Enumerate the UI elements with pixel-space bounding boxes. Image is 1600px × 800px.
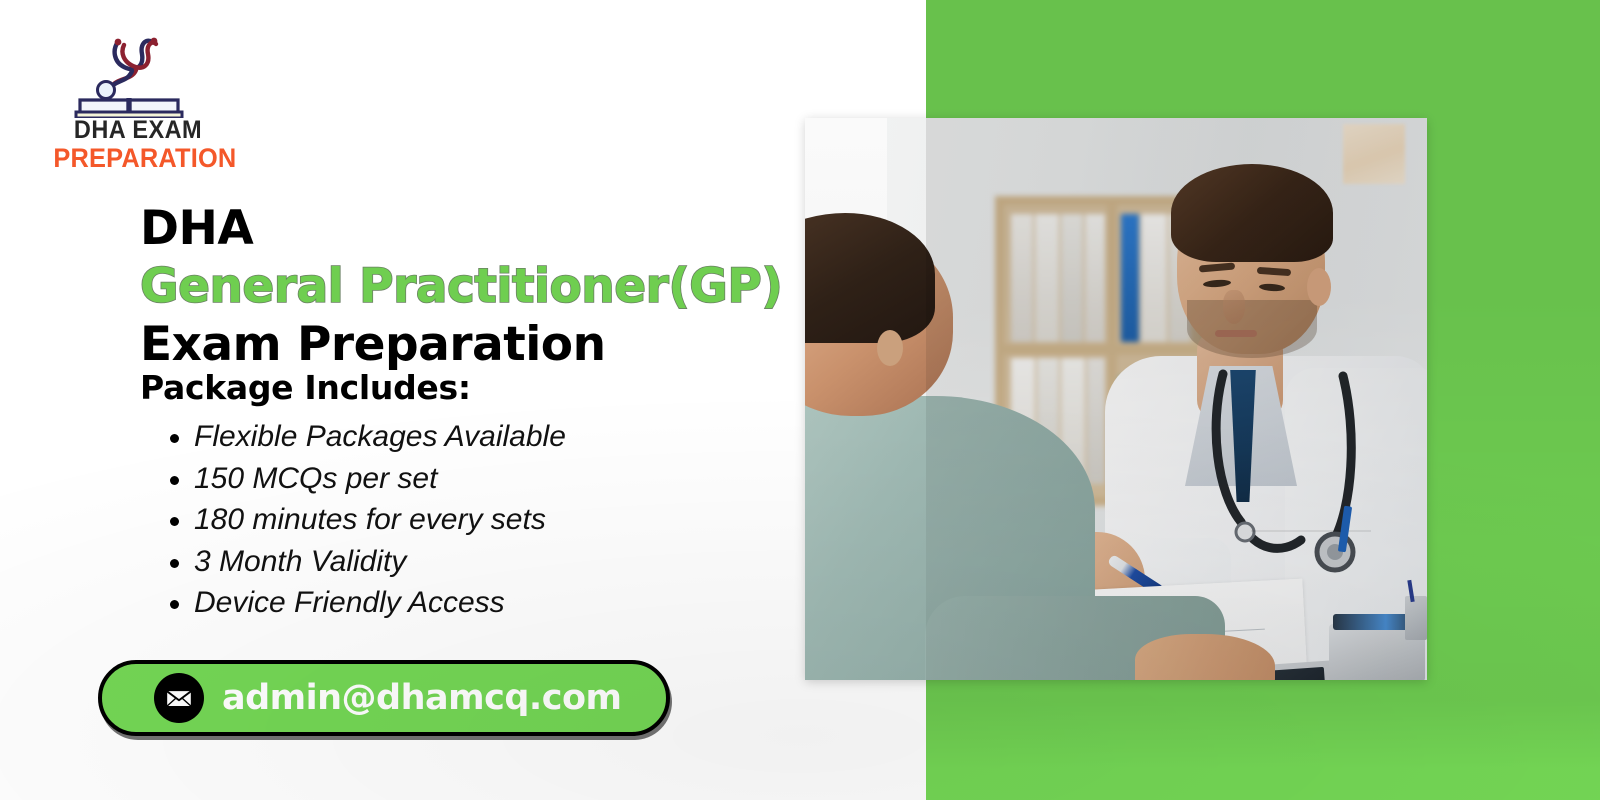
list-item: Flexible Packages Available — [168, 416, 566, 458]
feature-list: Flexible Packages Available 150 MCQs per… — [168, 416, 566, 624]
list-item: 150 MCQs per set — [168, 458, 566, 500]
doctor-patient-photo: Rx — [805, 118, 1427, 680]
email-contact-button[interactable]: admin@dhamcq.com — [98, 660, 670, 736]
wall-poster — [1343, 124, 1405, 184]
brand-logo: DHA EXAM PREPARATION — [48, 26, 228, 154]
headline-line-3: Exam Preparation — [140, 316, 840, 374]
logo-text-secondary: PREPARATION — [53, 145, 222, 172]
list-item: 3 Month Validity — [168, 541, 566, 583]
headline-line-2: General Practitioner(GP) — [140, 258, 840, 316]
envelope-icon — [154, 673, 204, 723]
email-address-label: admin@dhamcq.com — [222, 678, 621, 718]
poster-canvas: DHA EXAM PREPARATION DHA General Practit… — [0, 0, 1600, 800]
logo-text-primary: DHA EXAM — [53, 118, 222, 143]
list-item: Device Friendly Access — [168, 582, 566, 624]
package-includes-heading: Package Includes: — [140, 368, 471, 408]
list-item: 180 minutes for every sets — [168, 499, 566, 541]
page-title: DHA General Practitioner(GP) Exam Prepar… — [140, 200, 840, 374]
stethoscope-book-icon — [66, 26, 196, 118]
pen-holder — [1405, 596, 1427, 640]
headline-line-1: DHA — [140, 200, 840, 258]
